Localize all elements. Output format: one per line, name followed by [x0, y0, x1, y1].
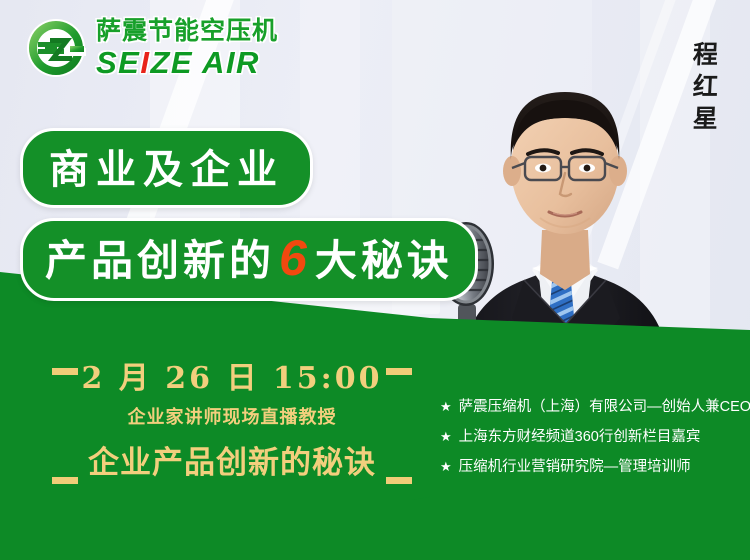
headline-line2-before: 产品创新的	[45, 237, 275, 284]
event-topic: 企业产品创新的秘诀	[78, 437, 386, 482]
headline-number: 6	[275, 230, 315, 286]
event-info-block: 2 月 26 日 15:00 企业家讲师现场直播教授 企业产品创新的秘诀	[52, 360, 412, 492]
star-icon: ★	[440, 428, 452, 446]
credential-item: ★ 上海东方财经频道360行创新栏目嘉宾	[440, 428, 740, 447]
bracket-left-decoration	[52, 360, 78, 492]
speaker-name-char: 红	[693, 74, 719, 99]
headline-line2-after: 大秘诀	[315, 237, 453, 284]
headline: 商业及企业 产品创新的6大秘诀	[20, 128, 750, 301]
credential-text: 上海东方财经频道360行创新栏目嘉宾	[459, 428, 701, 447]
star-icon: ★	[440, 458, 452, 476]
brand-logo: 萨震节能空压机 SEIZE AIR	[24, 16, 278, 80]
promo-banner: 萨震节能空压机 SEIZE AIR 程 红 星 商业及企业 产品创新的6大秘诀 …	[0, 0, 750, 560]
speaker-name-vertical: 程 红 星	[684, 42, 728, 131]
speaker-name-char: 程	[693, 42, 719, 67]
logo-mark-icon	[24, 16, 88, 80]
speaker-name-char: 星	[693, 106, 719, 131]
logo-en-part1: SE	[96, 45, 140, 80]
credentials-list: ★ 萨震压缩机（上海）有限公司—创始人兼CEO ★ 上海东方财经频道360行创新…	[440, 398, 740, 488]
logo-en-part2: ZE AIR	[150, 45, 259, 80]
event-subtitle: 企业家讲师现场直播教授	[78, 403, 386, 429]
credential-item: ★ 萨震压缩机（上海）有限公司—创始人兼CEO	[440, 398, 740, 417]
event-datetime: 2 月 26 日 15:00	[78, 362, 386, 397]
logo-en-accent: I	[140, 45, 150, 80]
star-icon: ★	[440, 398, 452, 416]
logo-chinese-name: 萨震节能空压机	[96, 19, 278, 44]
headline-line2: 产品创新的6大秘诀	[20, 218, 478, 301]
background-shelf-shape	[250, 314, 420, 342]
credential-text: 萨震压缩机（上海）有限公司—创始人兼CEO	[459, 398, 750, 417]
credential-text: 压缩机行业营销研究院—管理培训师	[459, 458, 691, 477]
headline-line1: 商业及企业	[20, 128, 313, 208]
credential-item: ★ 压缩机行业营销研究院—管理培训师	[440, 458, 740, 477]
logo-english-name: SEIZE AIR	[96, 47, 278, 78]
bracket-right-decoration	[386, 360, 412, 492]
